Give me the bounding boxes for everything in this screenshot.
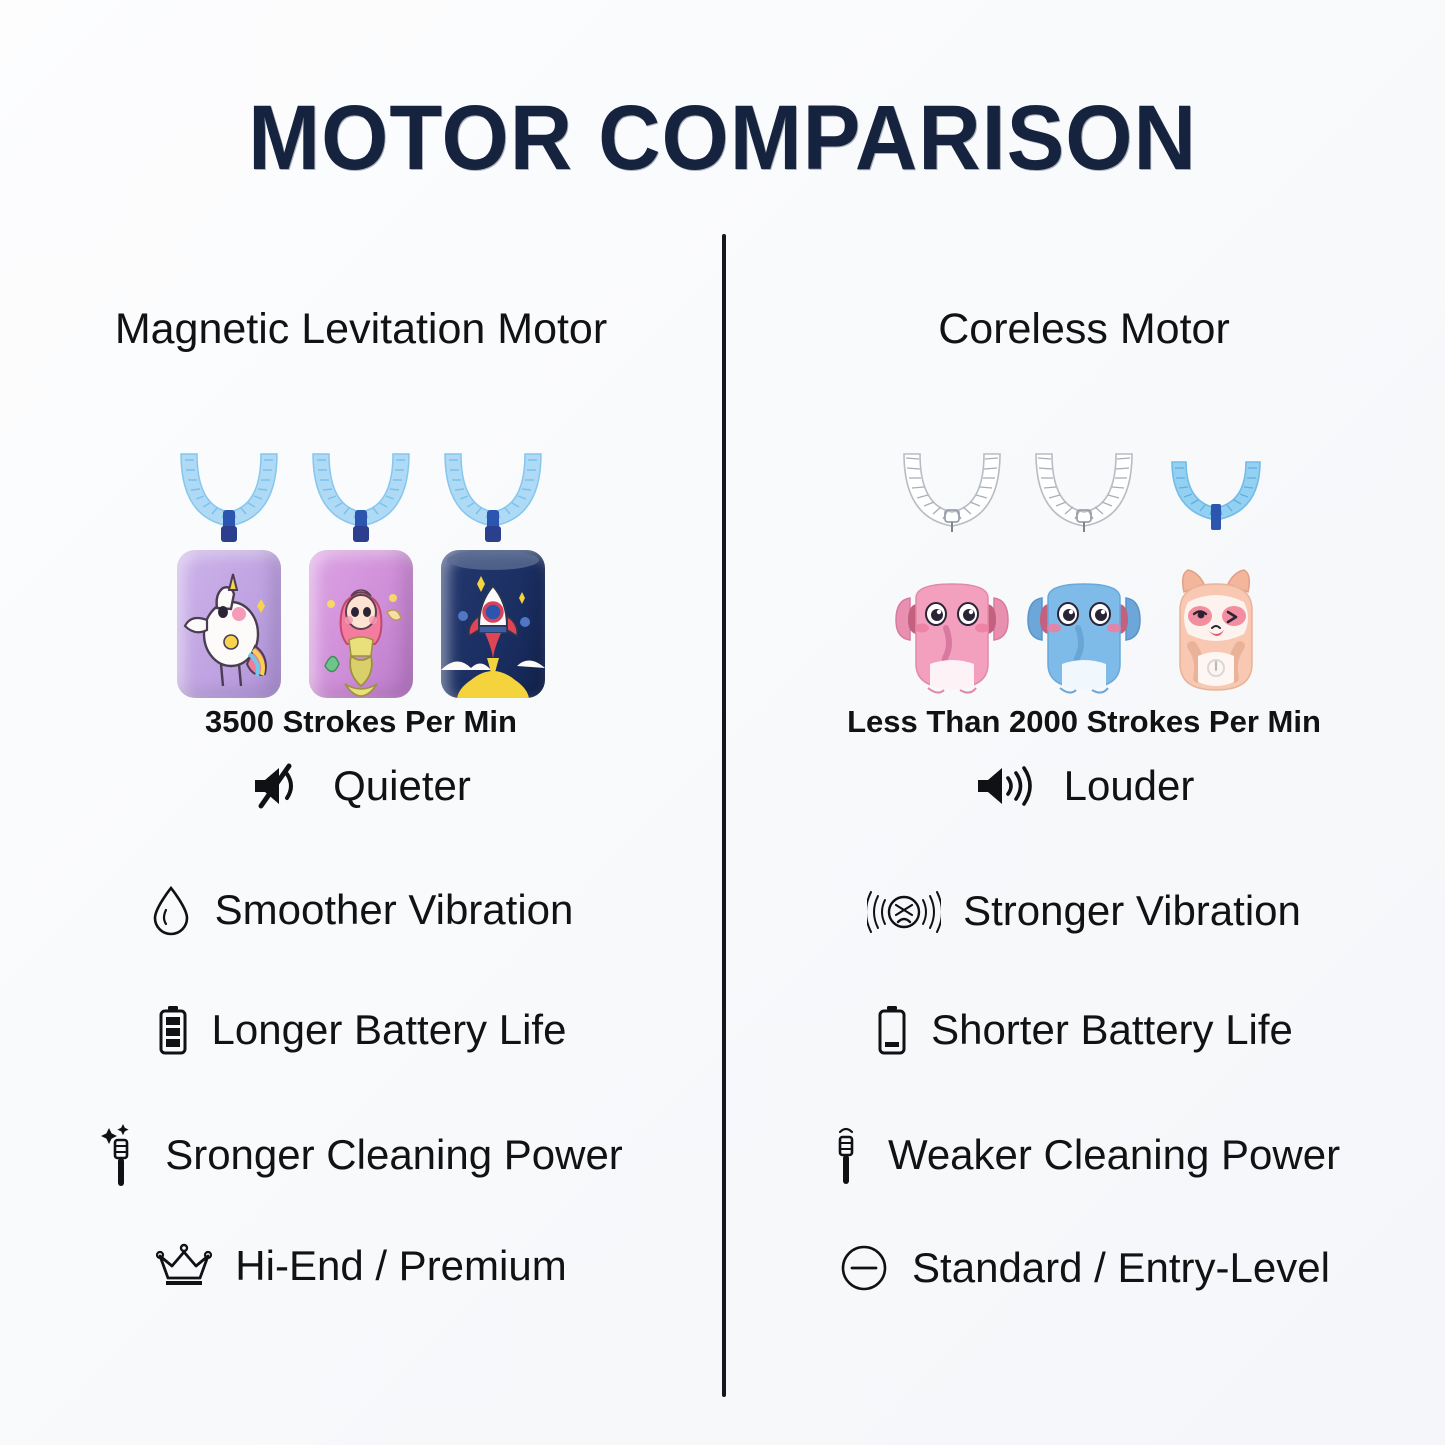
strokes-label-left: 3500 Strokes Per Min <box>0 704 722 740</box>
toothbrush-sparkle-icon <box>99 1122 143 1188</box>
rocket-handle <box>441 550 545 698</box>
toothbrush-icon <box>828 1122 866 1188</box>
product-mermaid-toothbrush <box>302 448 420 698</box>
strokes-label-right: Less Than 2000 Strokes Per Min <box>723 704 1445 740</box>
feature-row-vibration-right: Stronger Vibration <box>723 884 1445 938</box>
feature-row-battery-left: Longer Battery Life <box>0 1004 722 1056</box>
pink-elephant-body <box>894 552 1010 698</box>
product-pink-elephant-toothbrush <box>893 448 1011 698</box>
feature-label-battery-right: Shorter Battery Life <box>931 1006 1293 1054</box>
feature-label-cleaning-right: Weaker Cleaning Power <box>888 1131 1340 1179</box>
u-shaped-brush-head-icon <box>898 448 1006 534</box>
shaking-face-icon <box>867 884 941 938</box>
feature-label-vibration-right: Stronger Vibration <box>963 887 1301 935</box>
mermaid-art <box>309 550 413 698</box>
feature-row-battery-right: Shorter Battery Life <box>723 1004 1445 1056</box>
sound-label-right: Louder <box>1064 762 1195 810</box>
feature-label-battery-left: Longer Battery Life <box>212 1006 567 1054</box>
u-shaped-brush-head-icon <box>439 448 547 534</box>
feature-row-vibration-left: Smoother Vibration <box>0 884 722 936</box>
u-shaped-brush-head-icon <box>175 448 283 534</box>
speaker-mute-icon <box>251 762 307 810</box>
product-rocket-toothbrush <box>434 448 552 698</box>
water-drop-icon <box>149 884 193 936</box>
rocket-neck-connector <box>485 526 501 542</box>
product-group-left <box>0 448 722 698</box>
battery-low-icon <box>875 1004 909 1056</box>
mermaid-handle <box>309 550 413 698</box>
product-peach-cat-toothbrush <box>1157 448 1275 698</box>
feature-row-cleaning-right: Weaker Cleaning Power <box>723 1122 1445 1188</box>
feature-label-tier-left: Hi-End / Premium <box>235 1242 566 1290</box>
feature-row-tier-right: Standard / Entry-Level <box>723 1242 1445 1294</box>
product-unicorn-toothbrush <box>170 448 288 698</box>
sound-label-left: Quieter <box>333 762 471 810</box>
unicorn-art <box>177 550 281 698</box>
u-shaped-brush-head-icon <box>1162 448 1270 534</box>
feature-label-vibration-left: Smoother Vibration <box>215 886 574 934</box>
peach-cat-body <box>1158 552 1274 698</box>
sound-row-right: Louder <box>723 762 1445 810</box>
sound-row-left: Quieter <box>0 762 722 810</box>
pink-elephant-art <box>894 552 1010 698</box>
column-magnetic-levitation: Magnetic Levitation Motor <box>0 0 722 1445</box>
peach-cat-art <box>1158 552 1274 698</box>
rocket-art <box>441 550 545 698</box>
crown-icon <box>155 1242 213 1290</box>
mermaid-neck-connector <box>353 526 369 542</box>
minus-circle-icon <box>838 1242 890 1294</box>
feature-label-tier-right: Standard / Entry-Level <box>912 1244 1330 1292</box>
u-shaped-brush-head-icon <box>1030 448 1138 534</box>
battery-full-icon <box>156 1004 190 1056</box>
blue-elephant-body <box>1026 552 1142 698</box>
unicorn-handle <box>177 550 281 698</box>
column-heading-right: Coreless Motor <box>723 296 1445 363</box>
comparison-infographic: MOTOR COMPARISON Magnetic Levitation Mot… <box>0 0 1445 1445</box>
feature-row-cleaning-left: Sronger Cleaning Power <box>0 1122 722 1188</box>
u-shaped-brush-head-icon <box>307 448 415 534</box>
product-blue-elephant-toothbrush <box>1025 448 1143 698</box>
feature-row-tier-left: Hi-End / Premium <box>0 1242 722 1290</box>
product-group-right <box>723 448 1445 698</box>
column-heading-left: Magnetic Levitation Motor <box>0 296 722 363</box>
speaker-loud-icon <box>974 762 1038 810</box>
feature-label-cleaning-left: Sronger Cleaning Power <box>165 1131 623 1179</box>
blue-elephant-art <box>1026 552 1142 698</box>
unicorn-neck-connector <box>221 526 237 542</box>
column-coreless: Coreless Motor <box>723 0 1445 1445</box>
